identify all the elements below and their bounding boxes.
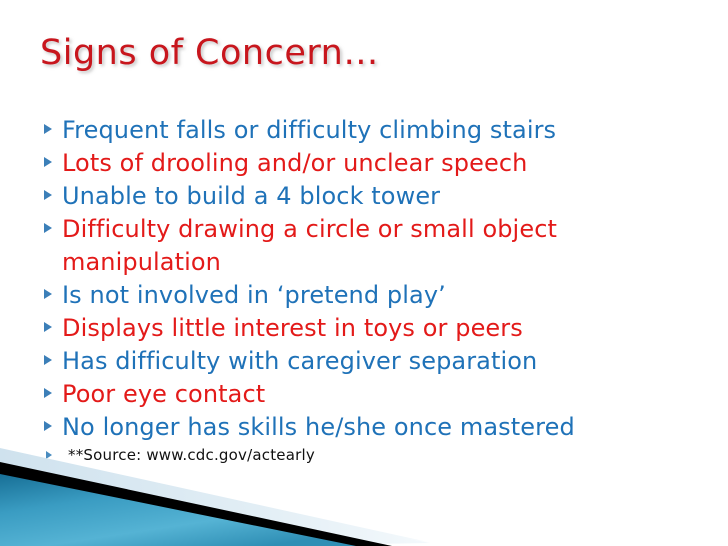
list-item: No longer has skills he/she once mastere… (40, 411, 690, 444)
list-item-label: Is not involved in ‘pretend play’ (62, 279, 690, 312)
bullet-triangle-icon (40, 345, 62, 365)
slide: Signs of Concern… Frequent falls or diff… (0, 0, 728, 546)
list-item: Is not involved in ‘pretend play’ (40, 279, 690, 312)
source-note-label: **Source: www.cdc.gov/actearly (62, 444, 690, 466)
list-item: Poor eye contact (40, 378, 690, 411)
list-item: Displays little interest in toys or peer… (40, 312, 690, 345)
bullet-triangle-icon (40, 411, 62, 431)
page-title: Signs of Concern… (40, 33, 379, 73)
list-item: Lots of drooling and/or unclear speech (40, 147, 690, 180)
bullet-list: Frequent falls or difficulty climbing st… (40, 114, 690, 466)
list-item: Difficulty drawing a circle or small obj… (40, 213, 690, 279)
list-item-label: Has difficulty with caregiver separation (62, 345, 690, 378)
list-item-label: Unable to build a 4 block tower (62, 180, 690, 213)
list-item-label: No longer has skills he/she once mastere… (62, 411, 690, 444)
list-item-label: Poor eye contact (62, 378, 690, 411)
list-item-label: Displays little interest in toys or peer… (62, 312, 690, 345)
bullet-triangle-icon (40, 147, 62, 167)
decoration-black-stripe (0, 462, 392, 546)
bullet-triangle-icon (40, 312, 62, 332)
source-note: **Source: www.cdc.gov/actearly (40, 444, 690, 466)
bullet-triangle-icon (40, 378, 62, 398)
bullet-triangle-icon (40, 444, 62, 459)
bullet-triangle-icon (40, 213, 62, 233)
list-item: Has difficulty with caregiver separation (40, 345, 690, 378)
bullet-triangle-icon (40, 279, 62, 299)
list-item-label: Lots of drooling and/or unclear speech (62, 147, 690, 180)
bullet-triangle-icon (40, 114, 62, 134)
list-item-label: Frequent falls or difficulty climbing st… (62, 114, 690, 147)
bullet-triangle-icon (40, 180, 62, 200)
decoration-teal-wedge (0, 474, 356, 546)
list-item: Frequent falls or difficulty climbing st… (40, 114, 690, 147)
decoration-pale-band-2 (0, 456, 430, 546)
list-item: Unable to build a 4 block tower (40, 180, 690, 213)
list-item-label: Difficulty drawing a circle or small obj… (62, 213, 690, 279)
